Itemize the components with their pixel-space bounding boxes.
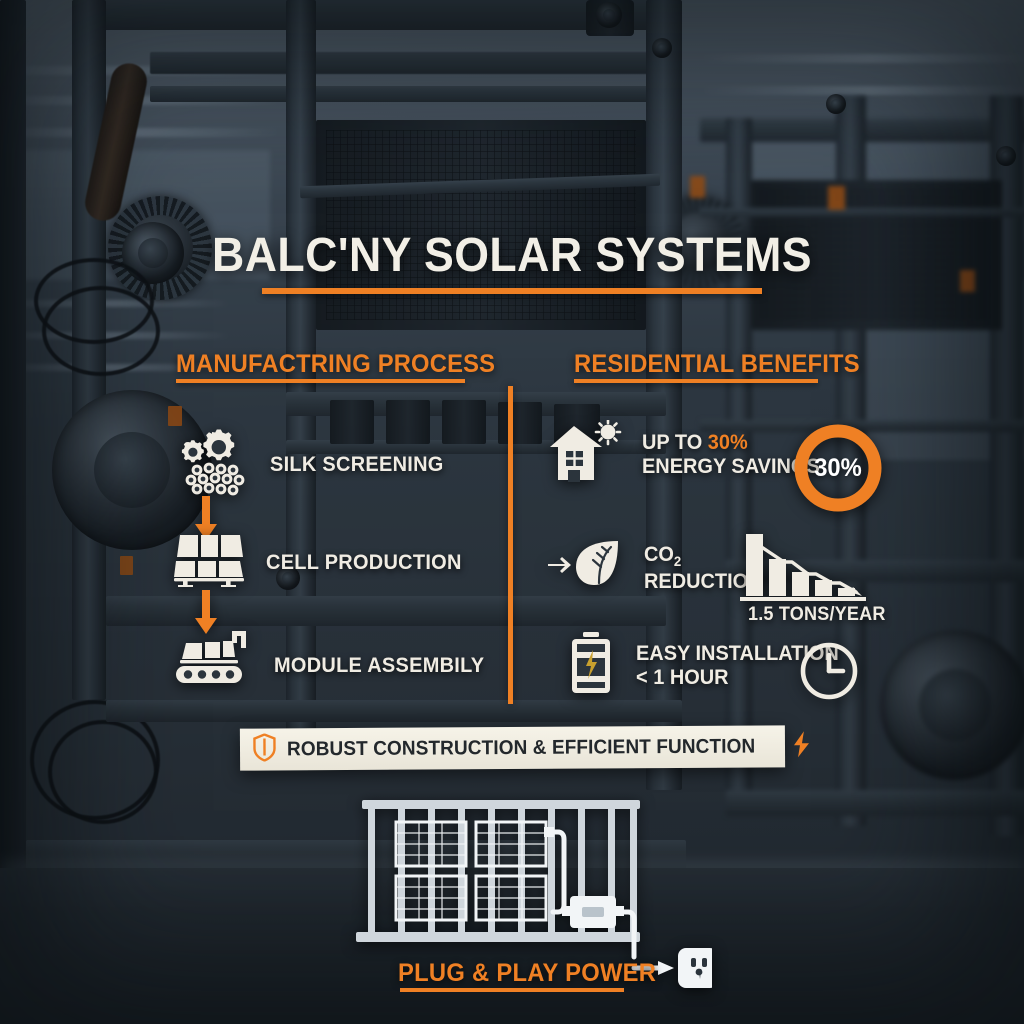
- solar-cell-icon: [174, 533, 246, 592]
- leaf-exchange-icon: [546, 537, 626, 600]
- benefits-underline: [574, 379, 818, 383]
- house-with-sun-icon: [548, 420, 624, 489]
- process-step-1: SILK SCREENING: [172, 428, 453, 505]
- lightning-bolt-icon: [791, 730, 813, 763]
- section-heading-benefits: RESIDENTIAL BENEFITS: [574, 350, 860, 379]
- battery-bolt-icon: [568, 632, 614, 699]
- conveyor-assembly-icon: [170, 625, 254, 692]
- infographic-canvas: BALC'NY SOLAR SYSTEMS MANUFACTRING PROCE…: [0, 0, 1024, 1024]
- benefit-row-energy-savings: UP TO 30% ENERGY SAVINGS: [548, 420, 829, 489]
- section-heading-manufacturing: MANUFACTRING PROCESS: [176, 350, 495, 379]
- shield-icon: [253, 733, 276, 766]
- banner-text: ROBUST CONSTRUCTION & EFFICIENT FUNCTION: [287, 735, 755, 761]
- process-step-3-label: MODULE ASSEMBILY: [274, 654, 484, 678]
- page-title: BALC'NY SOLAR SYSTEMS: [36, 228, 988, 283]
- gears-icon: [172, 428, 250, 505]
- process-step-1-label: SILK SCREENING: [270, 453, 444, 477]
- title-underline: [262, 288, 762, 294]
- donut-ring-icon: 30%: [791, 421, 885, 515]
- clock-icon: [798, 640, 860, 707]
- process-step-2: CELL PRODUCTION: [174, 533, 472, 592]
- co2-subscript: 2: [674, 554, 681, 570]
- feature-banner: ROBUST CONSTRUCTION & EFFICIENT FUNCTION: [240, 725, 785, 770]
- energy-savings-prefix: UP TO: [642, 431, 708, 454]
- inverter-box-icon: [562, 896, 624, 928]
- wall-outlet-icon: [678, 948, 712, 988]
- declining-bar-chart-icon: [740, 528, 870, 611]
- chart-annotation-label: 1.5 TONS/YEAR: [748, 604, 886, 626]
- donut-ring-value: 30%: [793, 421, 882, 515]
- manufacturing-underline: [176, 379, 465, 383]
- benefit-row-co2-reduction: CO2 REDUCTION: [546, 537, 769, 600]
- installation-line2: < 1 HOUR: [636, 666, 729, 689]
- plug-play-underline: [400, 988, 624, 992]
- process-step-3: MODULE ASSEMBILY: [170, 625, 495, 692]
- plug-play-label: PLUG & PLAY POWER: [398, 959, 656, 988]
- process-step-2-label: CELL PRODUCTION: [266, 551, 462, 575]
- co2-label: CO: [644, 543, 674, 566]
- energy-savings-value: 30%: [708, 431, 748, 454]
- column-divider: [508, 386, 513, 704]
